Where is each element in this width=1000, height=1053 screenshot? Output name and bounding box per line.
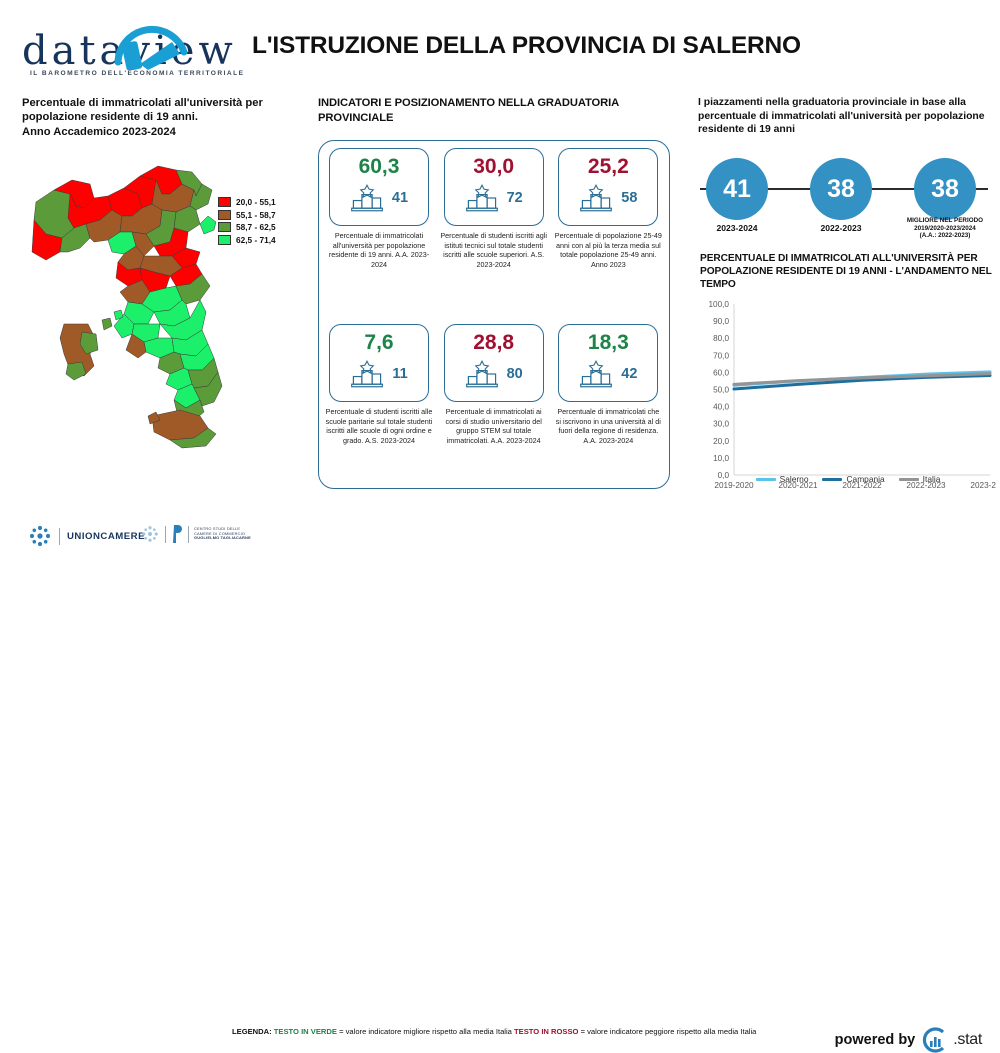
indicator-card-0[interactable]: 60,3 41 Percentuale di immatricolati all… bbox=[325, 148, 433, 270]
indicator-card-1[interactable]: 30,0 72 Percentuale di studenti iscritti… bbox=[440, 148, 548, 270]
indicator-value: 30,0 bbox=[473, 155, 514, 179]
podium-icon bbox=[465, 183, 499, 213]
indicator-description: Percentuale di studenti iscritti agli is… bbox=[440, 231, 548, 270]
page-header: dataview IL BAROMETRO DELL'ECONOMIA TERR… bbox=[0, 0, 1000, 88]
svg-text:70,0: 70,0 bbox=[713, 351, 729, 360]
chart-legend: Salerno Campania Italia bbox=[700, 474, 996, 484]
indicator-value: 60,3 bbox=[359, 155, 400, 179]
indicator-card-row-2: 7,6 11 Percentuale di studenti iscritti … bbox=[325, 324, 663, 446]
indicators-panel: INDICATORI E POSIZIONAMENTO NELLA GRADUA… bbox=[318, 96, 670, 496]
indicator-description: Percentuale di studenti iscritti alle sc… bbox=[325, 407, 433, 446]
indicator-value: 18,3 bbox=[588, 331, 629, 355]
tagliacarne-logo: CENTRO STUDI DELLE CAMERE DI COMMERCIO G… bbox=[140, 524, 251, 544]
legend-swatch-1 bbox=[218, 197, 231, 207]
chart-plot: 0,010,020,030,040,050,060,070,080,090,01… bbox=[700, 296, 996, 501]
rank-circle-2023-2024: 41 bbox=[706, 158, 768, 220]
legend-swatch-3 bbox=[218, 222, 231, 232]
tagliacarne-line-3: GUGLIELMO TAGLIACARNE bbox=[194, 535, 251, 540]
podium-icon bbox=[579, 359, 613, 389]
indicator-card-4[interactable]: 28,8 80 Percentuale di immatricolati ai … bbox=[440, 324, 548, 446]
map-legend: 20,0 - 55,1 55,1 - 58,7 58,7 - 62,5 62,5… bbox=[218, 196, 276, 246]
indicator-description: Percentuale di immatricolati all'univers… bbox=[325, 231, 433, 270]
legend-swatch-campania bbox=[822, 478, 842, 481]
unioncamere-name: UNIONCAMERE bbox=[67, 531, 145, 542]
tagliacarne-mark-icon bbox=[140, 524, 160, 544]
speedometer-icon bbox=[114, 18, 192, 70]
svg-text:10,0: 10,0 bbox=[713, 454, 729, 463]
powered-by: powered by .stat bbox=[835, 1027, 982, 1053]
indicator-description: Percentuale di immatricolati che si iscr… bbox=[554, 407, 662, 446]
page-footer: UNIONCAMERE CENTRO STUDI DELLE CAMERE DI… bbox=[0, 506, 1000, 562]
legend-label-campania: Campania bbox=[846, 474, 884, 484]
legend-label-salerno: Salerno bbox=[780, 474, 809, 484]
indicator-rank: 80 bbox=[507, 366, 523, 382]
svg-text:20,0: 20,0 bbox=[713, 437, 729, 446]
legenda-red-tag: TESTO IN ROSSO bbox=[514, 1027, 578, 1036]
ranking-heading: I piazzamenti nella graduatoria provinci… bbox=[698, 96, 990, 137]
rank-caption-2: MIGLIORE NEL PERIODO 2019/2020-2023/2024… bbox=[897, 217, 993, 240]
legend-item: 58,7 - 62,5 bbox=[218, 221, 276, 234]
rank-circle-2022-2023: 38 bbox=[810, 158, 872, 220]
legend-item: 55,1 - 58,7 bbox=[218, 209, 276, 222]
indicator-rank: 41 bbox=[392, 190, 408, 206]
chart-title: PERCENTUALE DI IMMATRICOLATI ALL'UNIVERS… bbox=[700, 252, 996, 292]
legend-label-italia: Italia bbox=[923, 474, 941, 484]
indicators-heading: INDICATORI E POSIZIONAMENTO NELLA GRADUA… bbox=[318, 96, 670, 125]
tagliacarne-name: CENTRO STUDI DELLE CAMERE DI COMMERCIO G… bbox=[194, 527, 251, 542]
indicator-card-row-1: 60,3 41 Percentuale di immatricolati all… bbox=[325, 148, 663, 270]
italy-choropleth-map bbox=[24, 154, 224, 499]
legend-entry-salerno: Salerno bbox=[756, 474, 809, 484]
indicator-rank: 42 bbox=[621, 366, 637, 382]
indicator-card-2[interactable]: 25,2 58 Percentuale di popolazione 25-49… bbox=[554, 148, 662, 270]
cstat-wordmark: .stat bbox=[953, 1031, 982, 1049]
podium-icon bbox=[579, 183, 613, 213]
legend-swatch-salerno bbox=[756, 478, 776, 481]
powered-by-label: powered by bbox=[835, 1032, 916, 1048]
rank-caption-0: 2023-2024 bbox=[689, 223, 785, 233]
logo-divider bbox=[165, 526, 166, 543]
indicator-rank: 72 bbox=[507, 190, 523, 206]
indicator-value: 7,6 bbox=[364, 331, 393, 355]
logo-divider bbox=[59, 528, 60, 545]
legend-item: 62,5 - 71,4 bbox=[218, 234, 276, 247]
indicator-rank: 58 bbox=[621, 190, 637, 206]
ranking-panel: I piazzamenti nella graduatoria provinci… bbox=[698, 96, 990, 137]
page-title: L'ISTRUZIONE DELLA PROVINCIA DI SALERNO bbox=[252, 32, 801, 60]
map-heading: Percentuale di immatricolati all'univers… bbox=[22, 96, 302, 139]
svg-text:40,0: 40,0 bbox=[713, 403, 729, 412]
indicator-card-3[interactable]: 7,6 11 Percentuale di studenti iscritti … bbox=[325, 324, 433, 446]
svg-text:50,0: 50,0 bbox=[713, 386, 729, 395]
unioncamere-logo: UNIONCAMERE bbox=[28, 524, 145, 548]
legend-swatch-4 bbox=[218, 235, 231, 245]
svg-text:90,0: 90,0 bbox=[713, 317, 729, 326]
logo-tagline: IL BAROMETRO DELL'ECONOMIA TERRITORIALE bbox=[30, 70, 244, 77]
indicator-description: Percentuale di popolazione 25-49 anni co… bbox=[554, 231, 662, 270]
legenda-red-text: = valore indicatore peggiore rispetto al… bbox=[581, 1027, 757, 1036]
unioncamere-mark-icon bbox=[28, 524, 52, 548]
indicator-value: 28,8 bbox=[473, 331, 514, 355]
footer-legend: LEGENDA: TESTO IN VERDE = valore indicat… bbox=[232, 1027, 792, 1037]
svg-text:100,0: 100,0 bbox=[709, 300, 730, 309]
legend-swatch-2 bbox=[218, 210, 231, 220]
legenda-green-text: = valore indicatore migliore rispetto al… bbox=[339, 1027, 512, 1036]
indicator-value: 25,2 bbox=[588, 155, 629, 179]
indicator-card-5[interactable]: 18,3 42 Percentuale di immatricolati che… bbox=[554, 324, 662, 446]
legend-entry-campania: Campania bbox=[822, 474, 884, 484]
rank-circle-best: 38 bbox=[914, 158, 976, 220]
podium-icon bbox=[350, 359, 384, 389]
ranking-timeline: 41 38 38 2023-2024 2022-2023 MIGLIORE NE… bbox=[698, 151, 990, 243]
tagliacarne-glyph-icon bbox=[171, 524, 183, 544]
svg-text:60,0: 60,0 bbox=[713, 368, 729, 377]
cstat-logo-icon bbox=[921, 1027, 947, 1053]
legend-label-3: 58,7 - 62,5 bbox=[236, 222, 276, 232]
podium-icon bbox=[465, 359, 499, 389]
podium-icon bbox=[350, 183, 384, 213]
legenda-label: LEGENDA: bbox=[232, 1027, 272, 1036]
legend-label-1: 20,0 - 55,1 bbox=[236, 197, 276, 207]
map-panel: Percentuale di immatricolati all'univers… bbox=[22, 96, 302, 506]
legend-label-2: 55,1 - 58,7 bbox=[236, 210, 276, 220]
dataview-logo: dataview IL BAROMETRO DELL'ECONOMIA TERR… bbox=[22, 18, 250, 80]
svg-text:30,0: 30,0 bbox=[713, 420, 729, 429]
logo-divider bbox=[188, 526, 189, 543]
legend-entry-italia: Italia bbox=[899, 474, 941, 484]
svg-text:80,0: 80,0 bbox=[713, 334, 729, 343]
rank-caption-1: 2022-2023 bbox=[793, 223, 889, 233]
legenda-green-tag: TESTO IN VERDE bbox=[274, 1027, 337, 1036]
indicator-rank: 11 bbox=[392, 366, 407, 382]
legend-item: 20,0 - 55,1 bbox=[218, 196, 276, 209]
legend-label-4: 62,5 - 71,4 bbox=[236, 235, 276, 245]
legend-swatch-italia bbox=[899, 478, 919, 481]
trend-chart-panel: PERCENTUALE DI IMMATRICOLATI ALL'UNIVERS… bbox=[700, 252, 996, 502]
indicator-description: Percentuale di immatricolati ai corsi di… bbox=[440, 407, 548, 446]
